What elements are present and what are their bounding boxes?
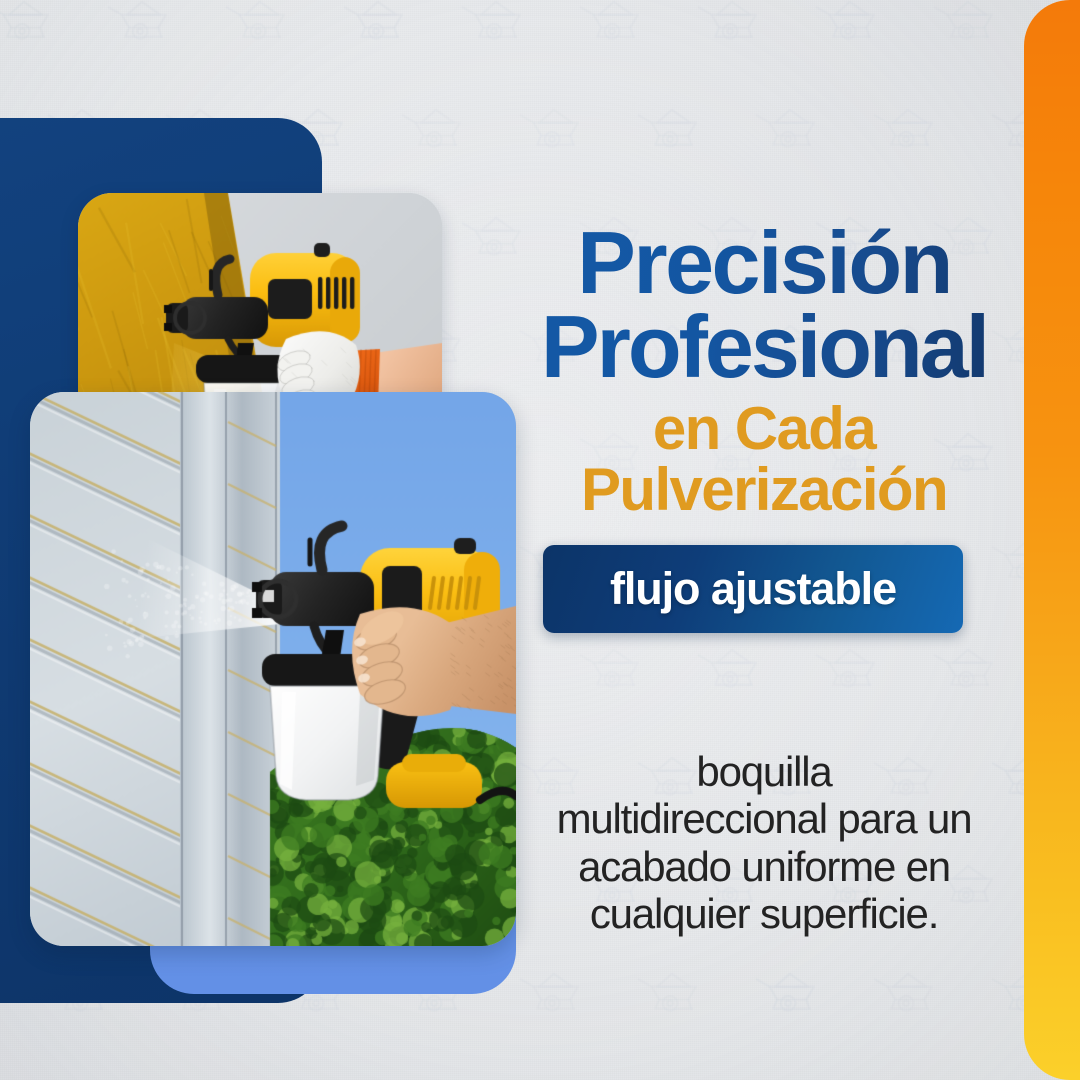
subtitle-line-2: Pulverización [524, 459, 1004, 520]
subtitle-line-1: en Cada [653, 395, 875, 462]
body-line-3: acabado uniforme en [524, 843, 1004, 890]
feature-badge[interactable]: flujo ajustable [543, 545, 963, 633]
promo-poster: Precisión Profesional en Cada Pulverizac… [0, 0, 1080, 1080]
body-line-2: multidireccional para un [524, 795, 1004, 842]
headline-line-2: Profesional [524, 305, 1004, 389]
photo-spray-gun-siding [30, 392, 516, 946]
body-line-1: boquilla [524, 748, 1004, 795]
feature-badge-label: flujo ajustable [610, 563, 896, 615]
page-subtitle: en Cada Pulverización [524, 398, 1004, 520]
body-description: boquilla multidireccional para un acabad… [524, 748, 1004, 938]
body-line-4: cualquier superficie. [524, 890, 1004, 937]
right-accent-bar [1024, 0, 1080, 1080]
page-title: Precisión Profesional [524, 221, 1004, 390]
